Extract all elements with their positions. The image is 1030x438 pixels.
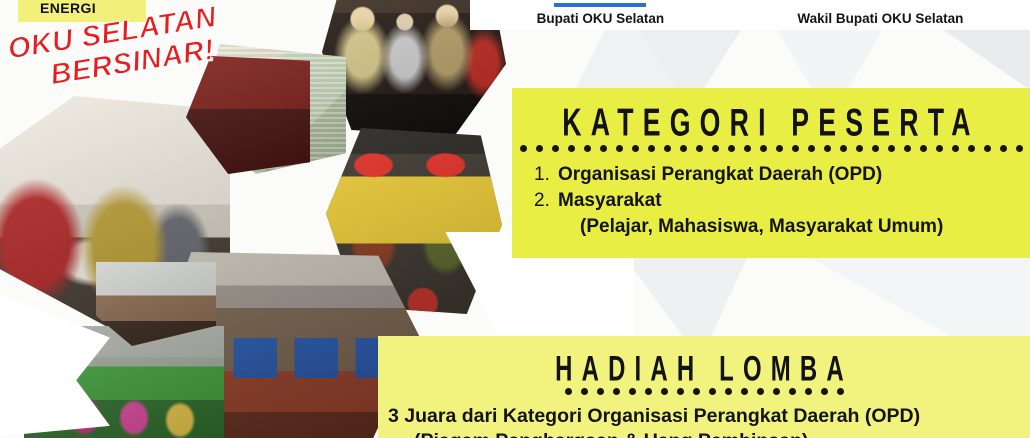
list-item-label: Organisasi Perangkat Daerah (OPD) <box>558 162 882 187</box>
official-bupati: Bupati OKU Selatan <box>537 11 665 26</box>
kategori-title: KATEGORI PESERTA <box>533 88 1010 143</box>
hadiah-line-2: (Piagam Penghargaan & Uang Pembinaan) <box>388 429 1030 438</box>
official-wakil-bupati: Wakil Bupati OKU Selatan <box>797 11 963 26</box>
kategori-peserta-box: KATEGORI PESERTA 1. Organisasi Perangkat… <box>512 88 1030 258</box>
bupati-title: Bupati OKU Selatan <box>537 11 665 26</box>
hadiah-lomba-box: HADIAH LOMBA 3 Juara dari Kategori Organ… <box>378 336 1030 438</box>
kategori-dot-divider <box>512 145 1030 152</box>
list-item-label: Masyarakat <box>558 188 662 213</box>
list-item: 1. Organisasi Perangkat Daerah (OPD) <box>534 162 1030 187</box>
kategori-subtext: (Pelajar, Mahasiswa, Masyarakat Umum) <box>534 214 1030 239</box>
list-item: 2. Masyarakat <box>534 188 1030 213</box>
list-item-number: 1. <box>534 162 554 187</box>
kategori-list: 1. Organisasi Perangkat Daerah (OPD) 2. … <box>512 162 1030 239</box>
bupati-name-bar <box>554 3 646 7</box>
hadiah-dot-divider <box>378 388 1030 395</box>
wakil-bupati-title: Wakil Bupati OKU Selatan <box>797 11 963 26</box>
officials-strip: Bupati OKU Selatan Wakil Bupati OKU Sela… <box>470 0 1030 30</box>
hadiah-body: 3 Juara dari Kategori Organisasi Perangk… <box>378 404 1030 438</box>
hadiah-title: HADIAH LOMBA <box>404 336 1004 386</box>
hadiah-line-1: 3 Juara dari Kategori Organisasi Perangk… <box>388 404 1030 429</box>
poster-canvas: SOSIAL ENERGI OKU SELATAN BERSINAR! Bupa… <box>0 0 1030 438</box>
list-item-number: 2. <box>534 188 554 213</box>
